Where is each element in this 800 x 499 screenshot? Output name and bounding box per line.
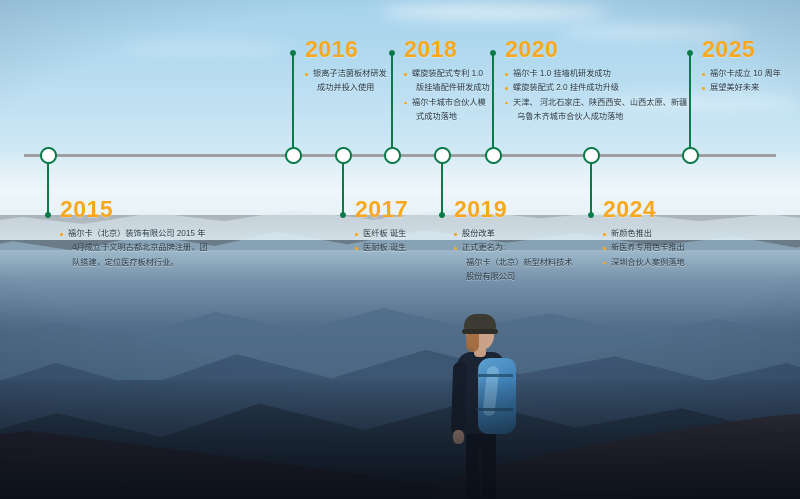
hiker-hat-brim xyxy=(462,329,498,334)
timeline-bullet-list-2015: 福尔卡（北京）装饰有限公司 2015 年4月成立于文明古都北京品牌注册，团队搭建… xyxy=(60,228,208,269)
timeline-bullet: 新医养专用色卡推出 xyxy=(603,242,685,254)
timeline-year-2016: 2016 xyxy=(305,38,387,61)
timeline-node-2017[interactable] xyxy=(335,147,352,164)
timeline-node-2018[interactable] xyxy=(384,147,401,164)
timeline-bullet: 福尔卡（北京）装饰有限公司 2015 年 xyxy=(60,228,208,240)
timeline-stem-2016 xyxy=(292,53,294,155)
timeline-year-2015: 2015 xyxy=(60,198,208,221)
cloud-wisp-icon xyxy=(120,44,290,54)
timeline-bullet: 正式更名为: xyxy=(454,242,572,254)
timeline-bullet-list-2019: 股份改革正式更名为:福尔卡（北京）新型材料技术股份有限公司 xyxy=(454,228,572,284)
timeline-stem-2017 xyxy=(342,155,344,215)
timeline-bullet: 版挂墙配件研发成功 xyxy=(404,82,490,94)
timeline-node-2024[interactable] xyxy=(583,147,600,164)
timeline-bullet: 螺旋装配式 2.0 挂件成功升级 xyxy=(505,82,687,94)
timeline-year-2018: 2018 xyxy=(404,38,490,61)
timeline-stem-2015 xyxy=(47,155,49,215)
timeline-node-2016[interactable] xyxy=(285,147,302,164)
timeline-bullet: 福尔卡成立 10 周年 xyxy=(702,68,781,80)
timeline-bullet: 银离子洁菌板材研发 xyxy=(305,68,387,80)
timeline-bullet: 天津、 河北石家庄、陕西西安、山西太原、新疆 xyxy=(505,97,687,109)
timeline-bullet-list-2024: 新颜色推出新医养专用色卡推出深圳合伙人案例落地 xyxy=(603,228,685,269)
timeline-year-2025: 2025 xyxy=(702,38,781,61)
timeline-bullet: 乌鲁木齐城市合伙人成功落地 xyxy=(505,111,687,123)
timeline-entry-2016[interactable]: 2016银离子洁菌板材研发成功并投入使用 xyxy=(305,38,387,97)
timeline-year-2019: 2019 xyxy=(454,198,572,221)
infographic-canvas: 2015福尔卡（北京）装饰有限公司 2015 年4月成立于文明古都北京品牌注册，… xyxy=(0,0,800,499)
timeline-bullet: 医纤板 诞生 xyxy=(355,228,408,240)
timeline-entry-2025[interactable]: 2025福尔卡成立 10 周年展望美好未来 xyxy=(702,38,781,97)
timeline-bullet: 医耐板 诞生 xyxy=(355,242,408,254)
timeline-bullet: 队搭建，定位医疗板材行业。 xyxy=(60,257,208,269)
timeline-bullet-list-2025: 福尔卡成立 10 周年展望美好未来 xyxy=(702,68,781,95)
timeline-year-2020: 2020 xyxy=(505,38,687,61)
timeline-entry-2020[interactable]: 2020福尔卡 1.0 挂墙机研发成功螺旋装配式 2.0 挂件成功升级天津、 河… xyxy=(505,38,687,126)
timeline-stem-2018 xyxy=(391,53,393,155)
photo-bottom-shadow xyxy=(0,379,800,499)
timeline-node-2019[interactable] xyxy=(434,147,451,164)
timeline-bullet-list-2016: 银离子洁菌板材研发成功并投入使用 xyxy=(305,68,387,95)
timeline-bullet: 股份改革 xyxy=(454,228,572,240)
timeline-bullet: 深圳合伙人案例落地 xyxy=(603,257,685,269)
timeline-stem-2019 xyxy=(441,155,443,215)
timeline-year-2017: 2017 xyxy=(355,198,408,221)
timeline-node-2015[interactable] xyxy=(40,147,57,164)
timeline-bullet-list-2017: 医纤板 诞生医耐板 诞生 xyxy=(355,228,408,255)
timeline-entry-2017[interactable]: 2017医纤板 诞生医耐板 诞生 xyxy=(355,198,408,257)
timeline-bullet-list-2020: 福尔卡 1.0 挂墙机研发成功螺旋装配式 2.0 挂件成功升级天津、 河北石家庄… xyxy=(505,68,687,124)
timeline-bullet: 新颜色推出 xyxy=(603,228,685,240)
timeline-bullet: 福尔卡（北京）新型材料技术 xyxy=(454,257,572,269)
timeline-bullet: 展望美好未来 xyxy=(702,82,781,94)
timeline-node-2020[interactable] xyxy=(485,147,502,164)
cloud-wisp-icon xyxy=(380,4,610,20)
timeline-year-2024: 2024 xyxy=(603,198,685,221)
timeline-entry-2024[interactable]: 2024新颜色推出新医养专用色卡推出深圳合伙人案例落地 xyxy=(603,198,685,271)
timeline-entry-2018[interactable]: 2018螺旋装配式专利 1.0版挂墙配件研发成功福尔卡城市合伙人模式成功落地 xyxy=(404,38,490,126)
timeline-bullet: 螺旋装配式专利 1.0 xyxy=(404,68,490,80)
timeline-stem-2020 xyxy=(492,53,494,155)
backpack-strap xyxy=(477,374,513,377)
timeline-stem-2024 xyxy=(590,155,592,215)
timeline-node-2025[interactable] xyxy=(682,147,699,164)
hiker-hair xyxy=(466,332,479,352)
timeline-entry-2015[interactable]: 2015福尔卡（北京）装饰有限公司 2015 年4月成立于文明古都北京品牌注册，… xyxy=(60,198,208,271)
timeline-stem-2025 xyxy=(689,53,691,155)
timeline-bullet: 成功并投入使用 xyxy=(305,82,387,94)
timeline-bullet: 式成功落地 xyxy=(404,111,490,123)
timeline-bullet: 4月成立于文明古都北京品牌注册，团 xyxy=(60,242,208,254)
timeline-bullet: 股份有限公司 xyxy=(454,271,572,283)
timeline-bullet-list-2018: 螺旋装配式专利 1.0版挂墙配件研发成功福尔卡城市合伙人模式成功落地 xyxy=(404,68,490,124)
timeline-bullet: 福尔卡城市合伙人模 xyxy=(404,97,490,109)
timeline-bullet: 福尔卡 1.0 挂墙机研发成功 xyxy=(505,68,687,80)
timeline-entry-2019[interactable]: 2019股份改革正式更名为:福尔卡（北京）新型材料技术股份有限公司 xyxy=(454,198,572,286)
